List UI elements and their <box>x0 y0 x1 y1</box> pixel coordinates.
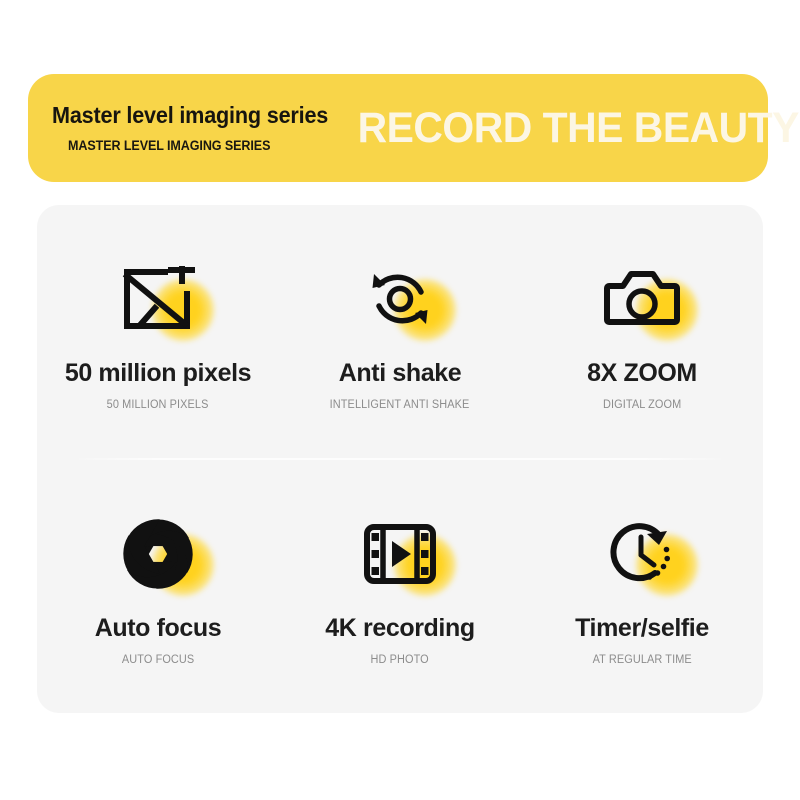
add-photo-icon <box>121 266 195 332</box>
feature-title: 8X ZOOM <box>587 361 697 386</box>
feature-subtitle: AUTO FOCUS <box>122 654 194 666</box>
play-triangle <box>392 541 411 567</box>
feature-subtitle: DIGITAL ZOOM <box>603 399 681 411</box>
aperture-icon <box>122 518 194 590</box>
header-banner: Master level imaging series MASTER LEVEL… <box>28 74 768 182</box>
feature-item-auto-focus[interactable]: Auto focus AUTO FOCUS <box>37 508 279 666</box>
icon-container <box>350 508 450 600</box>
feature-row-2: Auto focus AUTO FOCUS <box>37 460 763 713</box>
icon-container <box>108 508 208 600</box>
banner-subtitle: MASTER LEVEL IMAGING SERIES <box>68 138 270 153</box>
feature-subtitle: 50 MILLION PIXELS <box>107 399 209 411</box>
icon-container <box>350 253 450 345</box>
feature-row-1: 50 million pixels 50 MILLION PIXELS Anti… <box>37 205 763 458</box>
camera-icon <box>603 268 681 330</box>
feature-item-8x-zoom[interactable]: 8X ZOOM DIGITAL ZOOM <box>521 253 763 411</box>
feature-item-anti-shake[interactable]: Anti shake INTELLIGENT ANTI SHAKE <box>279 253 521 411</box>
banner-headline: RECORD THE BEAUTY <box>357 107 798 150</box>
clock-hands <box>641 537 654 565</box>
feature-subtitle: HD PHOTO <box>371 654 429 666</box>
feature-title: Timer/selfie <box>575 616 709 641</box>
anti-shake-rotate-icon <box>365 264 435 334</box>
feature-title: Anti shake <box>339 361 461 386</box>
banner-headline-group: RECORD THE BEAUTY <box>346 107 800 150</box>
arrow-head <box>647 531 667 545</box>
icon-container <box>592 508 692 600</box>
banner-left-text-group: Master level imaging series MASTER LEVEL… <box>28 103 346 152</box>
icon-container <box>592 253 692 345</box>
icon-container <box>108 253 208 345</box>
feature-item-50-million-pixels[interactable]: 50 million pixels 50 MILLION PIXELS <box>37 253 279 411</box>
feature-subtitle: AT REGULAR TIME <box>592 654 691 666</box>
banner-title: Master level imaging series <box>52 103 328 128</box>
timer-clock-icon <box>607 519 677 589</box>
feature-item-timer-selfie[interactable]: Timer/selfie AT REGULAR TIME <box>521 508 763 666</box>
feature-item-4k-recording[interactable]: 4K recording HD PHOTO <box>279 508 521 666</box>
feature-card: 50 million pixels 50 MILLION PIXELS Anti… <box>37 205 763 713</box>
film-play-icon <box>363 523 437 585</box>
feature-title: 4K recording <box>325 616 474 641</box>
feature-title: Auto focus <box>95 616 222 641</box>
feature-subtitle: INTELLIGENT ANTI SHAKE <box>330 399 470 411</box>
feature-title: 50 million pixels <box>65 361 251 386</box>
